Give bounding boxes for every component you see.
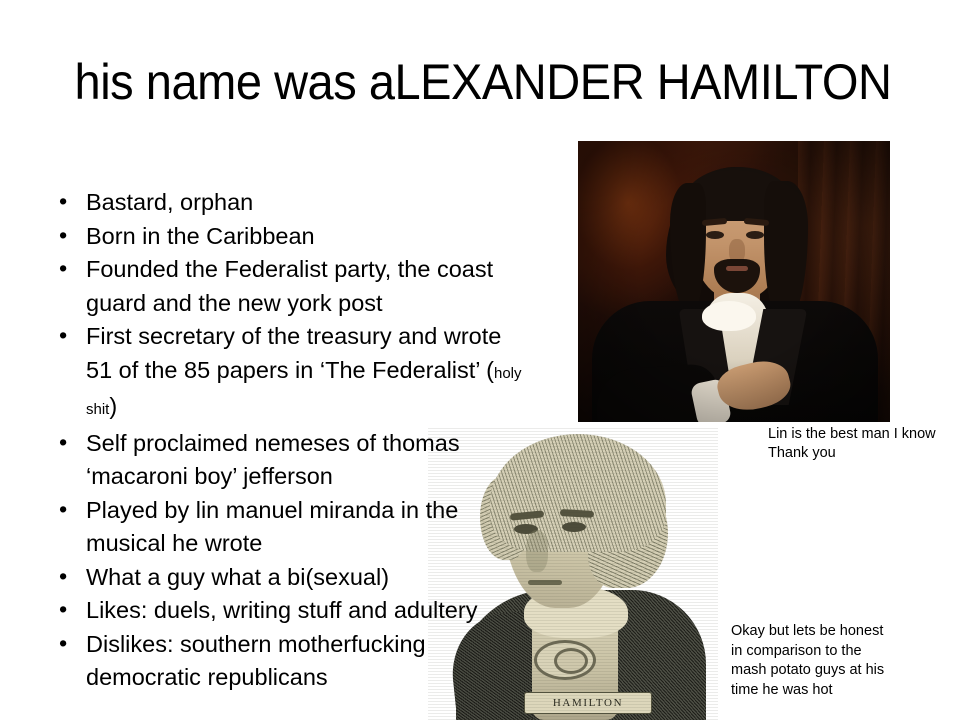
bill-nameplate: HAMILTON bbox=[524, 692, 652, 714]
list-item: First secretary of the treasury and wrot… bbox=[52, 320, 522, 427]
photo-neckcloth-bow bbox=[702, 301, 756, 331]
hamilton-bill-engraving: HAMILTON bbox=[428, 428, 718, 720]
bullet-text: Born in the Caribbean bbox=[86, 223, 315, 249]
bill-caption-line2: in comparison to the bbox=[731, 642, 946, 662]
bullet-text: Dislikes: southern motherfucking democra… bbox=[86, 631, 426, 691]
bullet-text: Played by lin manuel miranda in the musi… bbox=[86, 497, 458, 557]
bill-caption: Okay but lets be honest in comparison to… bbox=[731, 622, 946, 700]
photo-caption-line2: Thank you bbox=[768, 444, 958, 463]
photo-eye-right bbox=[746, 231, 764, 239]
bill-caption-line4: time he was hot bbox=[731, 681, 946, 701]
bullet-text: Bastard, orphan bbox=[86, 189, 253, 215]
page-title: his name was aLEXANDER HAMILTON bbox=[74, 52, 892, 112]
bullet-text: Founded the Federalist party, the coast … bbox=[86, 256, 493, 316]
bullet-text: Self proclaimed nemeses of thomas ‘macar… bbox=[86, 430, 460, 490]
bill-bow-inner bbox=[554, 648, 588, 674]
lin-manuel-miranda-photo bbox=[578, 141, 890, 422]
bill-mouth bbox=[528, 580, 562, 585]
bullet-text: What a guy what a bi(sexual) bbox=[86, 564, 389, 590]
list-item: Born in the Caribbean bbox=[52, 220, 522, 254]
list-item: Bastard, orphan bbox=[52, 186, 522, 220]
bill-hair bbox=[490, 434, 666, 552]
bullet-text-after: ) bbox=[109, 393, 117, 419]
photo-eye-left bbox=[706, 231, 724, 239]
list-item: Founded the Federalist party, the coast … bbox=[52, 253, 522, 320]
photo-mouth bbox=[726, 266, 748, 271]
bullet-text: Likes: duels, writing stuff and adultery bbox=[86, 597, 477, 623]
bill-caption-line3: mash potato guys at his bbox=[731, 661, 946, 681]
bill-nameplate-label: HAMILTON bbox=[553, 697, 623, 709]
bill-caption-line1: Okay but lets be honest bbox=[731, 622, 946, 642]
photo-caption: Lin is the best man I know Thank you bbox=[768, 425, 958, 463]
photo-caption-line1: Lin is the best man I know bbox=[768, 425, 958, 444]
bill-eye-right bbox=[562, 522, 586, 532]
bill-nose bbox=[526, 530, 548, 572]
slide-canvas: his name was aLEXANDER HAMILTON Bastard,… bbox=[0, 0, 960, 720]
bullet-text: First secretary of the treasury and wrot… bbox=[86, 323, 501, 383]
